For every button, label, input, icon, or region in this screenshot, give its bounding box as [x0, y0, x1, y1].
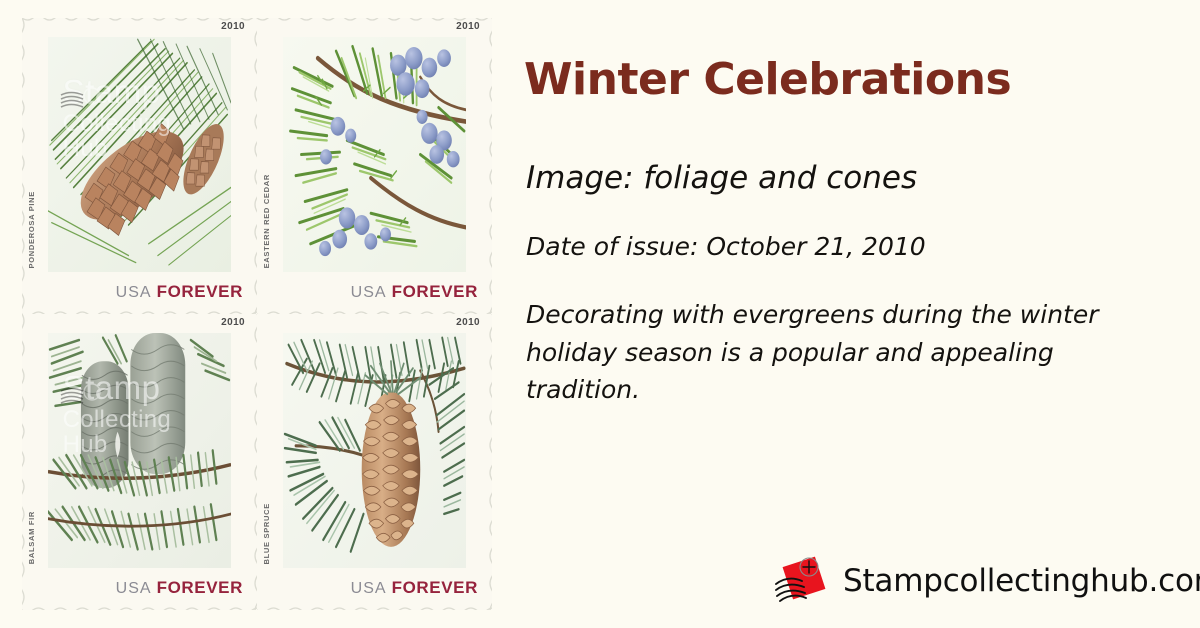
- stamp-year: 2010: [456, 317, 480, 328]
- usa-text: USA: [351, 284, 387, 301]
- stamp-block: Stamp Collecting Hub 2010 PONDEROSA PINE…: [22, 18, 492, 610]
- forever-text: FOREVER: [157, 578, 243, 597]
- stamp-denomination: USA FOREVER: [116, 282, 243, 302]
- cedar-foliage-illustration: [283, 37, 466, 272]
- perforation-edge-left: [22, 314, 27, 610]
- perforation-edge-right: [487, 314, 492, 610]
- stamp-species-label: PONDEROSA PINE: [27, 191, 36, 268]
- poster-canvas: Stamp Collecting Hub 2010 PONDEROSA PINE…: [0, 0, 1200, 628]
- stamp-artwork-ponderosa-pine: Stamp Collecting Hub: [48, 37, 231, 272]
- stamp-blue-spruce[interactable]: 2010 BLUE SPRUCE USA FOREVER: [257, 314, 492, 610]
- stamp-species-label: EASTERN RED CEDAR: [262, 174, 271, 268]
- perforation-edge-bottom: [22, 605, 257, 610]
- site-name: Stampcollectinghub.com: [843, 563, 1200, 599]
- fir-foliage-illustration: [48, 333, 231, 568]
- forever-text: FOREVER: [392, 282, 478, 301]
- stamp-ponderosa-pine[interactable]: Stamp Collecting Hub 2010 PONDEROSA PINE…: [22, 18, 257, 314]
- perforation-edge-left: [22, 18, 27, 314]
- stamp-artwork-blue-spruce: [283, 333, 466, 568]
- stamp-year: 2010: [221, 317, 245, 328]
- site-branding[interactable]: Stampcollectinghub.com: [774, 554, 1200, 608]
- perforation-edge-bottom: [257, 605, 492, 610]
- stamp-denomination: USA FOREVER: [116, 578, 243, 598]
- stamp-denomination: USA FOREVER: [351, 282, 478, 302]
- stamp-artwork-eastern-red-cedar: [283, 37, 466, 272]
- date-of-issue: Date of issue: October 21, 2010: [526, 232, 926, 261]
- forever-text: FOREVER: [392, 578, 478, 597]
- usa-text: USA: [351, 580, 387, 597]
- stamp-species-label: BALSAM FIR: [27, 511, 36, 564]
- page-title: Winter Celebrations: [524, 56, 1011, 104]
- stamp-postmark-logo-icon: [774, 554, 830, 608]
- usa-text: USA: [116, 580, 152, 597]
- pine-foliage-illustration: [48, 37, 231, 272]
- info-panel: Winter Celebrations Image: foliage and c…: [524, 0, 1184, 628]
- stamp-artwork-balsam-fir: Stamp Collecting Hub: [48, 333, 231, 568]
- stamp-year: 2010: [456, 21, 480, 32]
- forever-text: FOREVER: [157, 282, 243, 301]
- spruce-foliage-illustration: [283, 333, 466, 568]
- description-text: Decorating with evergreens during the wi…: [526, 296, 1106, 409]
- stamp-eastern-red-cedar[interactable]: 2010 EASTERN RED CEDAR USA FOREVER: [257, 18, 492, 314]
- stamp-species-label: BLUE SPRUCE: [262, 503, 271, 564]
- perforation-edge-right: [487, 18, 492, 314]
- image-subtitle: Image: foliage and cones: [526, 160, 917, 196]
- stamp-year: 2010: [221, 21, 245, 32]
- stamp-balsam-fir[interactable]: Stamp Collecting Hub 2010 BALSAM FIR USA…: [22, 314, 257, 610]
- stamp-denomination: USA FOREVER: [351, 578, 478, 598]
- usa-text: USA: [116, 284, 152, 301]
